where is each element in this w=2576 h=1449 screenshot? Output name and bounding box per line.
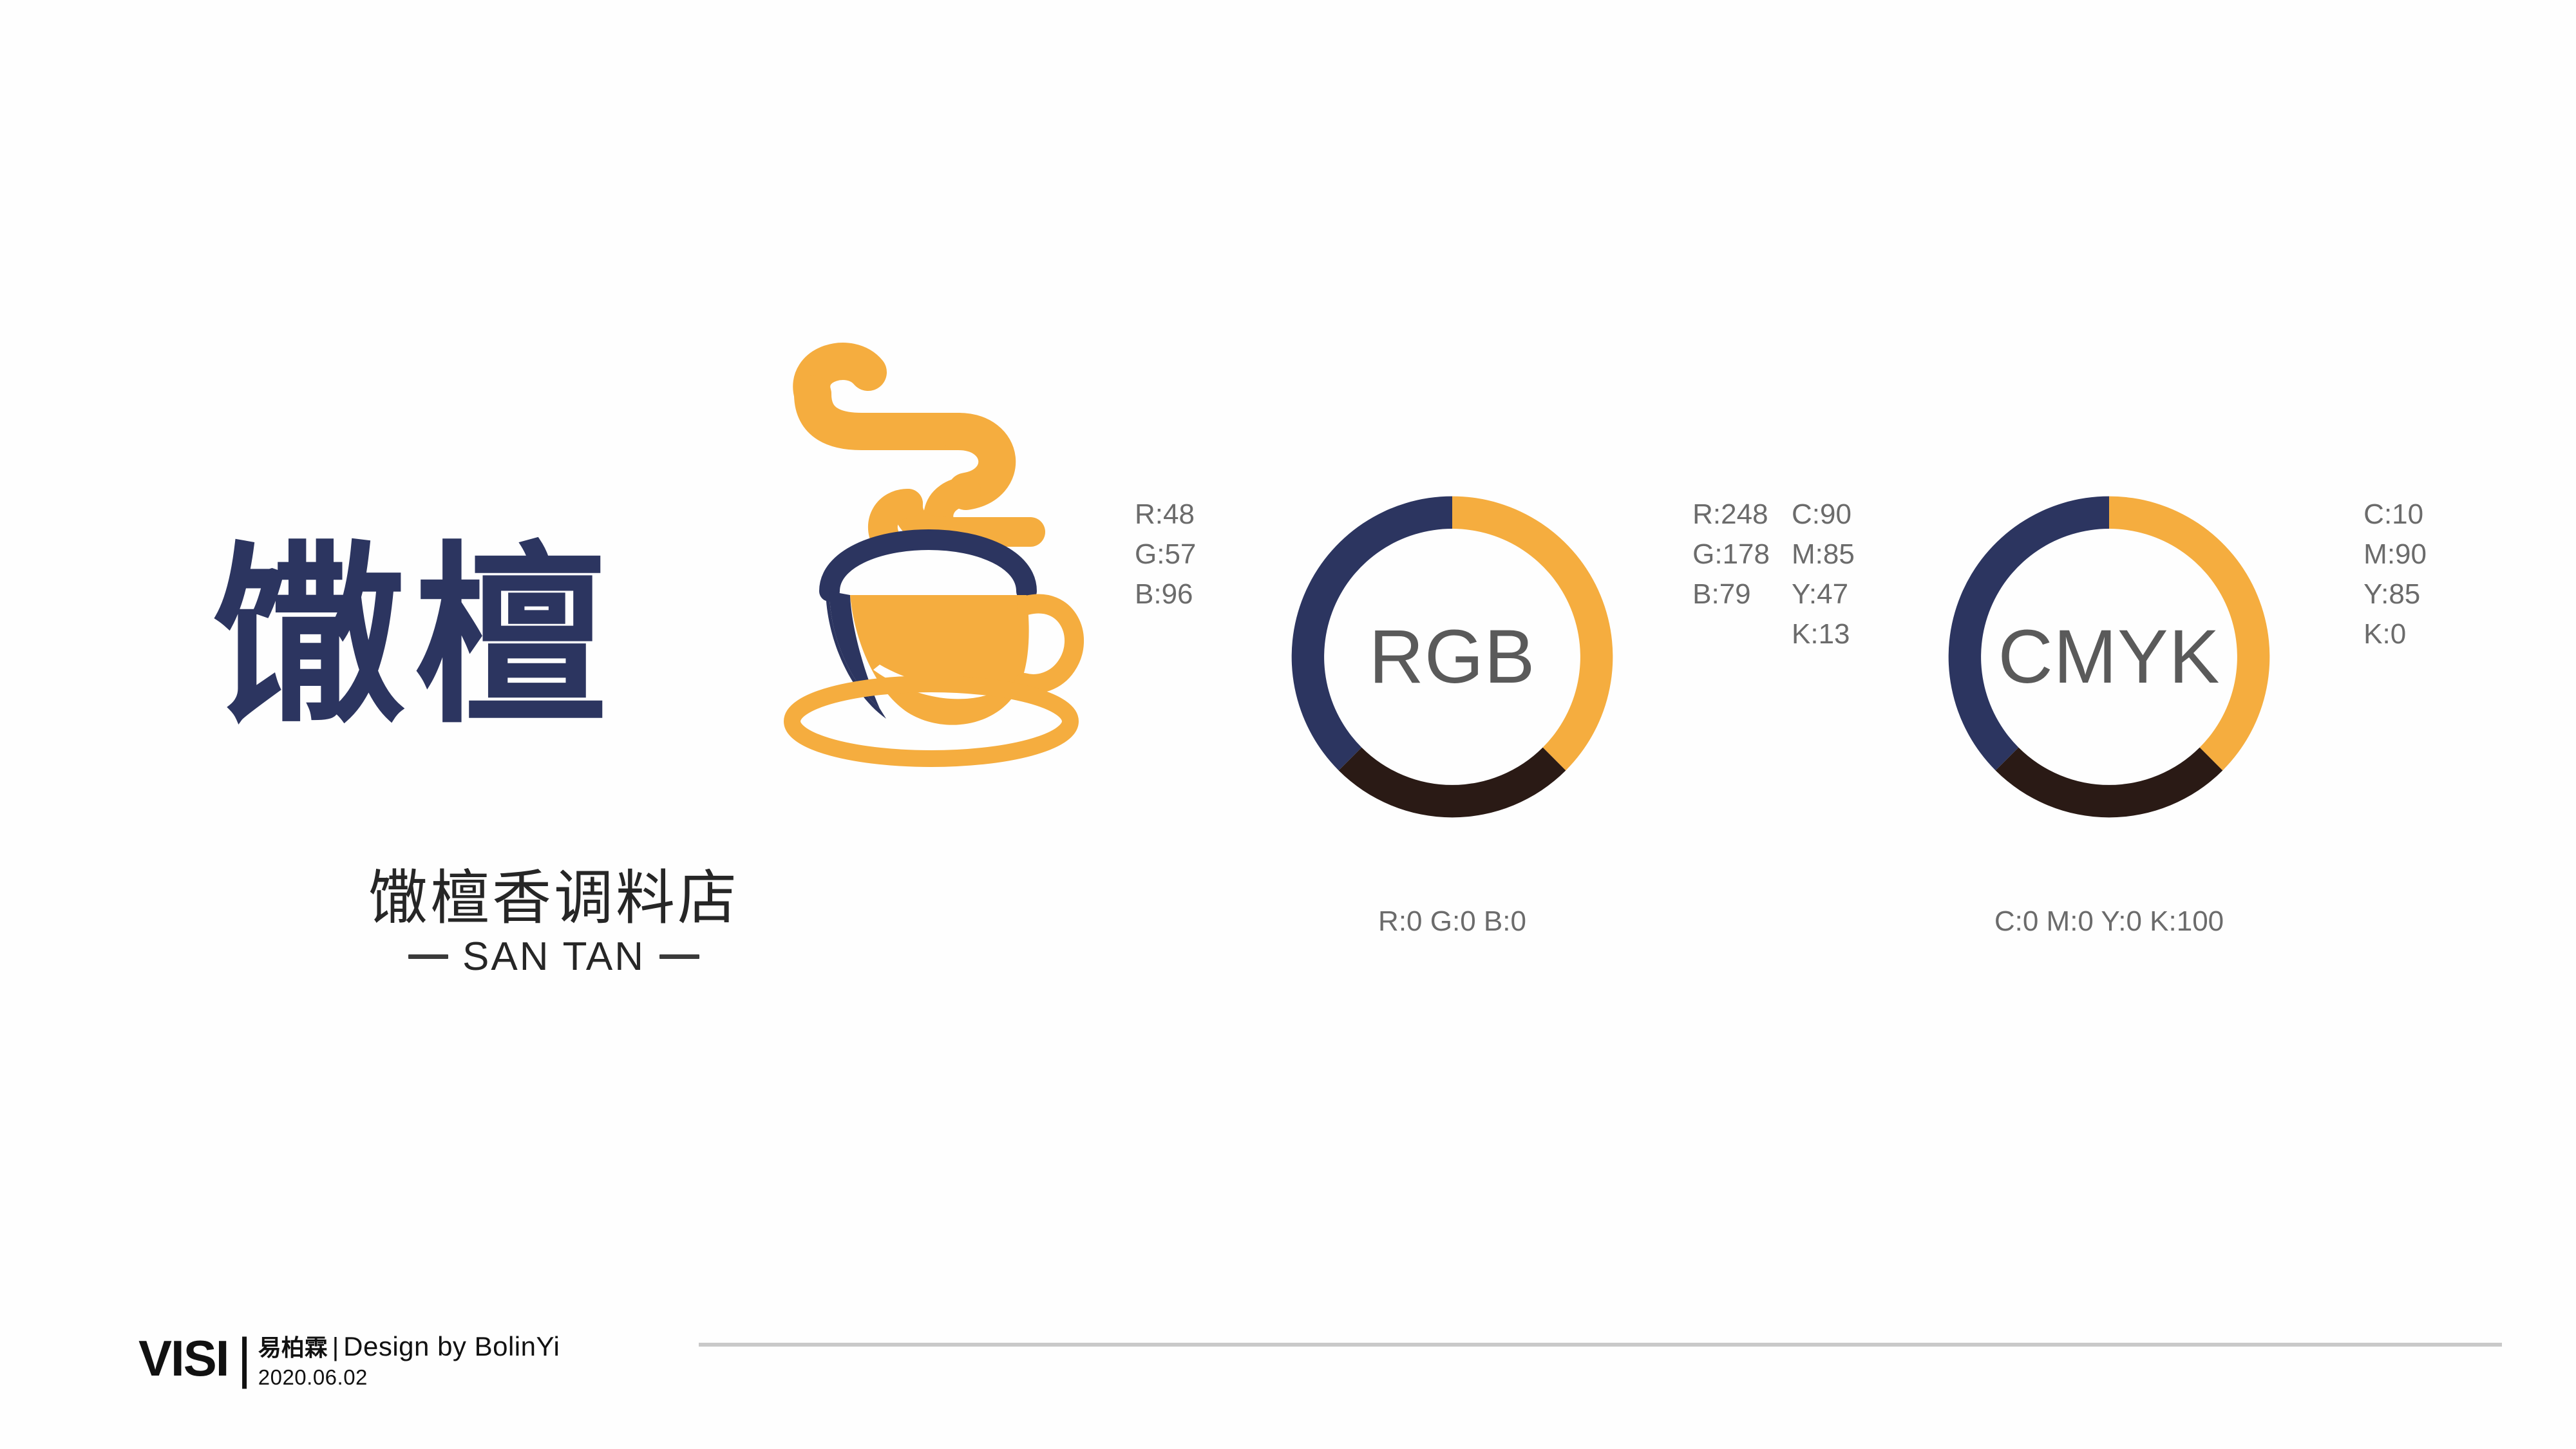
rgb-color-donut-chart: RGB R:48 G:57 B:96 R:248 G:178 B:79 R:0 … (1121, 451, 1784, 992)
footer-brand-row: VISI | 易柏霖 | Design by BolinYi 2020.06.0… (138, 1332, 560, 1390)
tea-cup-with-leaf-icon (753, 335, 1101, 786)
cmyk-orange-y: Y:85 (2363, 574, 2427, 614)
cmyk-orange-label: C:10 M:90 Y:85 K:0 (2363, 495, 2427, 654)
footer-date: 2020.06.02 (258, 1365, 560, 1390)
cmyk-navy-y: Y:47 (1792, 574, 1855, 614)
tagline-dash-left (408, 954, 448, 959)
rgb-slice-orange (1452, 497, 1613, 771)
rgb-orange-r: R:248 (1692, 495, 1770, 535)
footer-divider-rule (699, 1343, 2502, 1347)
cmyk-orange-m: M:90 (2363, 535, 2427, 574)
rgb-orange-label: R:248 G:178 B:79 (1692, 495, 1770, 614)
rgb-orange-g: G:178 (1692, 535, 1770, 574)
rgb-navy-label: R:48 G:57 B:96 (1135, 495, 1196, 614)
footer-designer-cn: 易柏霖 (258, 1335, 328, 1362)
footer-credit-line: 易柏霖 | Design by BolinYi (258, 1333, 560, 1362)
brand-logo-block: 馓檀 (193, 348, 1095, 1043)
rgb-slice-navy (1292, 497, 1452, 771)
rgb-black-label: R:0 G:0 B:0 (1121, 902, 1784, 942)
rgb-donut-ring (1265, 470, 1639, 844)
rgb-slice-black (1339, 748, 1566, 818)
page-footer: VISI | 易柏霖 | Design by BolinYi 2020.06.0… (0, 1307, 2576, 1449)
footer-separator-1: | (237, 1332, 251, 1385)
tagline-dash-right (659, 954, 699, 959)
logo-tagline-row: SAN TAN (193, 934, 914, 980)
rgb-navy-b: B:96 (1135, 574, 1196, 614)
logo-wordmark: 馓檀 (213, 502, 779, 773)
cmyk-donut-ring (1922, 470, 2296, 844)
cmyk-navy-label: C:90 M:85 Y:47 K:13 (1792, 495, 1855, 654)
footer-design-by: Design by BolinYi (343, 1333, 560, 1360)
logo-tagline: SAN TAN (462, 934, 645, 980)
footer-credit-stack: 易柏霖 | Design by BolinYi 2020.06.02 (258, 1332, 560, 1390)
cmyk-orange-c: C:10 (2363, 495, 2427, 535)
cmyk-navy-k: K:13 (1792, 614, 1855, 654)
logo-subtitle: 馓檀香调料店 (193, 850, 914, 936)
cmyk-color-donut-chart: CMYK C:90 M:85 Y:47 K:13 C:10 M:90 Y:85 … (1777, 451, 2441, 992)
cmyk-orange-k: K:0 (2363, 614, 2427, 654)
logo-mark: 馓檀 (193, 348, 1095, 837)
cmyk-slice-black (1996, 748, 2223, 818)
footer-visi-label: VISI (138, 1332, 228, 1385)
cmyk-navy-m: M:85 (1792, 535, 1855, 574)
cmyk-navy-c: C:90 (1792, 495, 1855, 535)
cmyk-slice-navy (1949, 497, 2109, 771)
footer-separator-2: | (332, 1334, 339, 1361)
rgb-navy-g: G:57 (1135, 535, 1196, 574)
cmyk-black-label: C:0 M:0 Y:0 K:100 (1777, 902, 2441, 942)
rgb-navy-r: R:48 (1135, 495, 1196, 535)
cmyk-slice-orange (2109, 497, 2269, 771)
rgb-orange-b: B:79 (1692, 574, 1770, 614)
